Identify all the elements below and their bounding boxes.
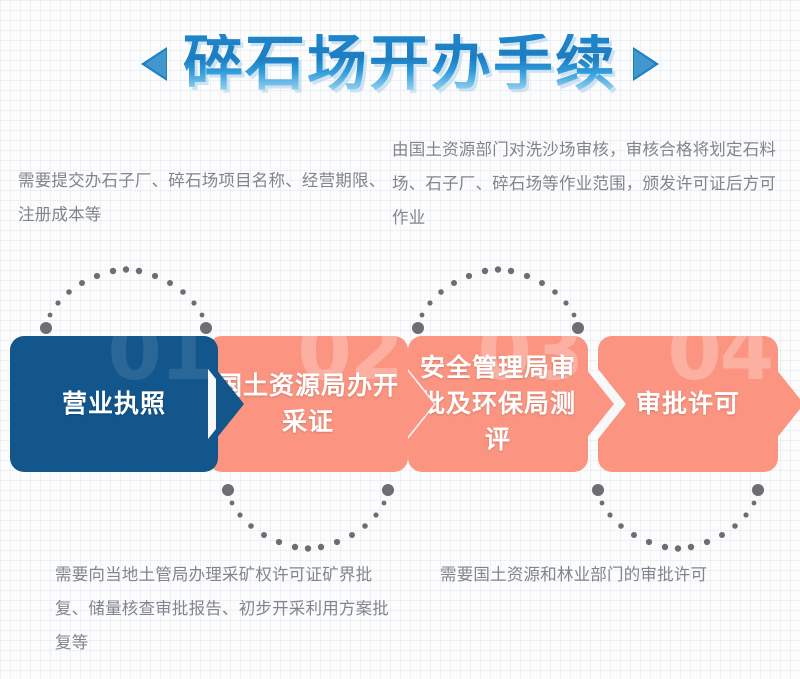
step-arrow-3 [586,369,614,439]
step-arrow-4 [776,369,800,439]
step-label-1: 营业执照 [10,386,218,422]
connector-arc-bottom-left [218,482,398,556]
description-bottom-left: 需要向当地土管局办理采矿权许可证矿界批复、储量核查审批报告、初步开采利用方案批复… [55,558,405,660]
connector-arc-top-left [36,262,216,336]
connector-arc-top-right [408,262,588,336]
triangle-left-icon [141,47,167,81]
step-item-4[interactable]: 04 审批许可 [598,336,778,472]
page-title: 碎石场开办手续 [0,16,800,111]
step-number-1: 01 [107,336,212,392]
page-title-text: 碎石场开办手续 [183,34,617,94]
step-label-4: 审批许可 [598,386,778,422]
description-top-right: 由国土资源部门对洗沙场审核，审核合格将划定石料场、石子厂、碎石场等作业范围，颁发… [392,133,784,235]
description-bottom-right: 需要国土资源和林业部门的审批许可 [440,558,800,592]
step-arrow-1 [216,369,244,439]
triangle-right-icon [633,47,659,81]
step-item-1[interactable]: 01 营业执照 [10,336,218,472]
connector-arc-bottom-right [588,482,768,556]
step-number-4: 04 [667,336,772,392]
step-label-3: 安全管理局审批及环保局测评 [408,350,588,458]
infographic-page: 碎石场开办手续 需要提交办石子厂、碎石场项目名称、经营期限、注册成本等 由国土资… [0,0,800,679]
description-top-left: 需要提交办石子厂、碎石场项目名称、经营期限、注册成本等 [18,164,388,232]
step-item-3[interactable]: 03 安全管理局审批及环保局测评 [408,336,588,472]
step-arrow-2 [406,369,434,439]
process-steps: 04 审批许可 03 安全管理局审批及环保局测评 02 国土资源局办开采证 01… [10,336,790,472]
